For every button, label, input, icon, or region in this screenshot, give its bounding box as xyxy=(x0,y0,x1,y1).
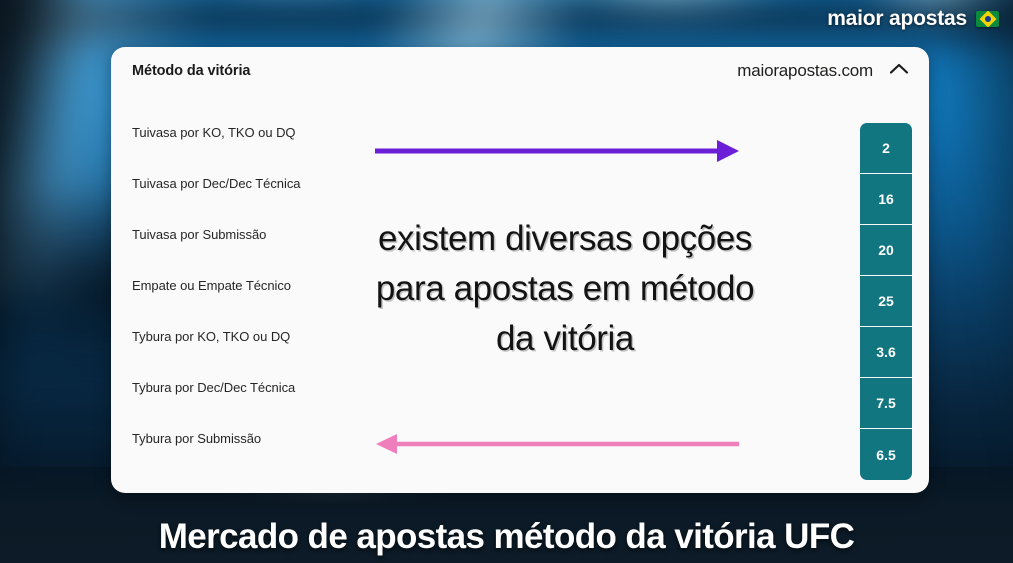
table-row[interactable]: Tybura por KO, TKO ou DQ xyxy=(111,311,929,362)
card-header-right: maiorapostas.com xyxy=(737,61,909,81)
market-card: Método da vitória maiorapostas.com Tuiva… xyxy=(111,47,929,493)
purple-right-arrow-icon xyxy=(372,136,742,166)
row-label: Tuivasa por KO, TKO ou DQ xyxy=(132,125,295,140)
row-label: Tuivasa por Submissão xyxy=(132,227,266,242)
odds-button[interactable]: 2 xyxy=(860,123,912,174)
row-label: Empate ou Empate Técnico xyxy=(132,278,291,293)
screenshot-root: maior apostas Método da vitória maiorapo… xyxy=(0,0,1013,563)
brand-watermark: maior apostas xyxy=(827,7,999,31)
table-row[interactable]: Tybura por Dec/Dec Técnica xyxy=(111,362,929,413)
table-row[interactable]: Empate ou Empate Técnico xyxy=(111,260,929,311)
odds-button[interactable]: 25 xyxy=(860,276,912,327)
card-title: Método da vitória xyxy=(132,63,250,79)
bottom-caption: Mercado de apostas método da vitória UFC xyxy=(0,517,1013,557)
brazil-flag-icon xyxy=(976,11,999,27)
pink-left-arrow-icon xyxy=(372,429,742,459)
odds-button[interactable]: 6.5 xyxy=(860,429,912,480)
row-label: Tybura por Submissão xyxy=(132,431,261,446)
odds-button[interactable]: 16 xyxy=(860,174,912,225)
chevron-up-icon[interactable] xyxy=(889,62,909,80)
odds-button[interactable]: 7.5 xyxy=(860,378,912,429)
odds-column: 2 16 20 25 3.6 7.5 6.5 xyxy=(860,123,912,480)
odds-button[interactable]: 3.6 xyxy=(860,327,912,378)
caption-text: Mercado de apostas método da vitória UFC xyxy=(159,517,855,556)
brand-name: maior apostas xyxy=(827,7,967,31)
row-label: Tybura por Dec/Dec Técnica xyxy=(132,380,295,395)
odds-button[interactable]: 20 xyxy=(860,225,912,276)
row-label: Tybura por KO, TKO ou DQ xyxy=(132,329,290,344)
card-header: Método da vitória maiorapostas.com xyxy=(111,47,929,95)
row-label: Tuivasa por Dec/Dec Técnica xyxy=(132,176,300,191)
site-label: maiorapostas.com xyxy=(737,61,873,81)
table-row[interactable]: Tuivasa por Submissão xyxy=(111,209,929,260)
